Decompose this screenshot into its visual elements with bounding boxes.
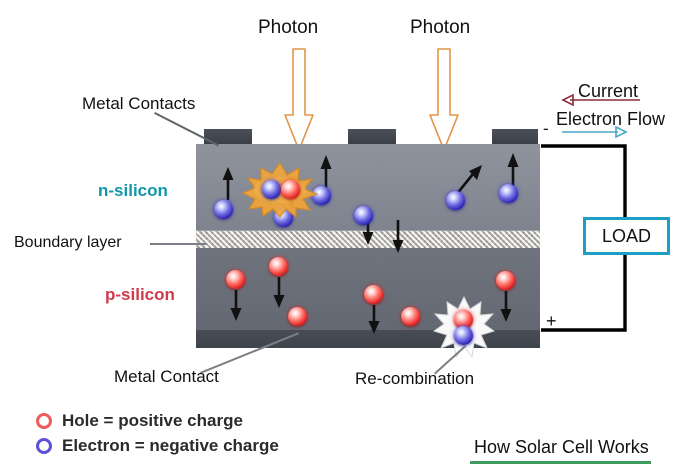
p-silicon-label: p-silicon <box>105 286 175 303</box>
hole-motion-arrow <box>272 277 286 309</box>
hole-motion-arrow <box>391 220 405 254</box>
photon-label-right: Photon <box>410 18 470 37</box>
electron-particle <box>499 184 518 203</box>
current-label: Current <box>578 82 638 100</box>
solar-cell-diagram: LOAD Photon Photon Metal Contacts n-sili… <box>0 0 685 472</box>
boundary-layer-label: Boundary layer <box>14 235 122 251</box>
electron-motion-arrow <box>506 152 520 188</box>
negative-terminal-label: - <box>543 120 549 137</box>
hole-particle <box>269 257 288 276</box>
load-label: LOAD <box>602 226 651 247</box>
electron-ring-icon <box>36 438 52 454</box>
hole-particle <box>226 270 245 289</box>
recombination-label: Re-combination <box>355 370 474 387</box>
hole-particle <box>496 271 515 290</box>
legend-item-electron: Electron = negative charge <box>36 433 279 458</box>
hole-ring-icon <box>36 413 52 429</box>
hole-motion-arrow <box>367 305 381 335</box>
metal-contact-label: Metal Contact <box>114 368 219 385</box>
title-underline <box>470 461 651 464</box>
photon-arrow-left <box>280 47 318 152</box>
legend-label-electron: Electron = negative charge <box>62 436 279 456</box>
leader-boundary-layer <box>150 243 206 245</box>
legend-item-hole: Hole = positive charge <box>36 408 279 433</box>
photon-arrow-right <box>425 47 463 152</box>
electron-motion-arrow <box>319 154 333 190</box>
metal-contacts-label: Metal Contacts <box>82 95 195 112</box>
metal-contact-top-2 <box>348 129 396 144</box>
hole-particle <box>401 307 420 326</box>
hole-particle <box>288 307 307 326</box>
hole-motion-arrow <box>229 290 243 322</box>
legend: Hole = positive charge Electron = negati… <box>36 408 279 458</box>
load-box[interactable]: LOAD <box>583 217 670 255</box>
solar-cell-body <box>196 144 540 348</box>
positive-terminal-label: + <box>546 312 557 330</box>
electron-particle <box>454 326 473 345</box>
electron-particle <box>354 206 373 225</box>
electron-hole-pair-burst <box>242 162 318 218</box>
page-title: How Solar Cell Works <box>474 438 649 456</box>
recombination-burst <box>433 296 495 358</box>
n-silicon-label: n-silicon <box>98 182 168 199</box>
hole-particle <box>281 180 300 199</box>
electron-particle <box>446 191 465 210</box>
hole-motion-arrow <box>499 291 513 323</box>
electron-motion-arrow <box>221 166 235 200</box>
metal-contact-top-3 <box>492 129 538 144</box>
photon-label-left: Photon <box>258 18 318 37</box>
legend-label-hole: Hole = positive charge <box>62 411 243 431</box>
electron-particle <box>262 180 281 199</box>
electron-particle <box>214 200 233 219</box>
hole-particle <box>364 285 383 304</box>
electron-flow-label: Electron Flow <box>556 110 665 128</box>
